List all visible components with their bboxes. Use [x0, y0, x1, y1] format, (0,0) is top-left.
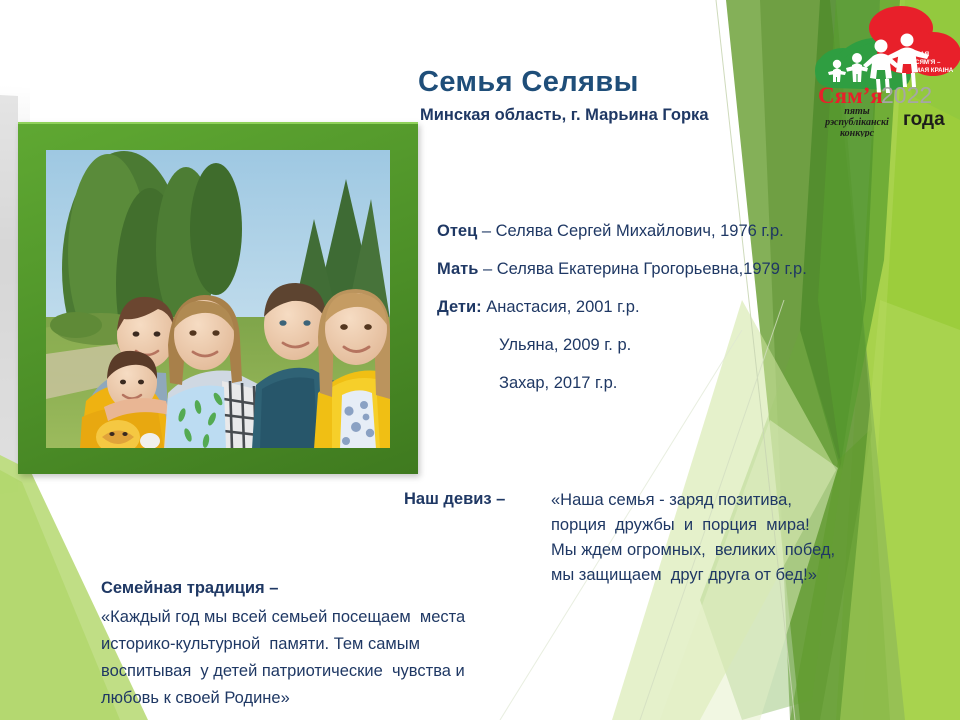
member-row-child-1: Дети: Анастасия, 2001 г.р. [437, 288, 807, 326]
member-value-child-2: Ульяна, 2009 г. р. [499, 336, 631, 354]
logo-contest-line2: рэспубліканскі [824, 117, 889, 128]
page-subtitle: Минская область, г. Марьина Горка [420, 106, 709, 125]
member-row-father: Отец – Селява Сергей Михайлович, 1976 г.… [437, 212, 807, 250]
logo-contest-line1: пяты [844, 106, 869, 117]
motto-label: Наш девиз – [404, 490, 505, 509]
tradition-text: «Каждый год мы всей семьей посещаем мест… [101, 604, 465, 712]
member-value-child-3: Захар, 2017 г.р. [499, 374, 617, 392]
logo-badge-line1: МАЯ [915, 51, 930, 58]
logo-year-word: года [903, 109, 945, 130]
contest-logo-graphic: МАЯ СЯМ’Я – МАЯ КРАІНА Сям’я 2022 пяты р… [795, 2, 960, 137]
logo-badge-line2: СЯМ’Я – [915, 59, 941, 66]
member-label-children: Дети: [437, 298, 482, 316]
family-photo [46, 150, 390, 448]
motto-text: «Наша семья - заряд позитива, порция дру… [551, 488, 835, 588]
member-value-child-1: Анастасия, 2001 г.р. [486, 298, 639, 316]
logo-badge-line3: МАЯ КРАІНА [915, 67, 954, 74]
member-dash-mother: – [478, 260, 496, 278]
logo-name: Сям’я [818, 83, 883, 108]
logo-contest-line3: конкурс [840, 128, 875, 137]
member-value-mother: Селява Екатерина Грогорьевна,1979 г.р. [497, 260, 807, 278]
family-photo-frame [18, 122, 418, 474]
member-dash-father: – [477, 222, 495, 240]
member-row-child-3: Захар, 2017 г.р. [437, 364, 807, 402]
logo-year: 2022 [881, 82, 932, 108]
member-label-father: Отец [437, 222, 477, 240]
slide-canvas: Семья Селявы Минская область, г. Марьина… [0, 0, 960, 720]
member-row-child-2: Ульяна, 2009 г. р. [437, 326, 807, 364]
member-row-mother: Мать – Селява Екатерина Грогорьевна,1979… [437, 250, 807, 288]
family-photo-image [46, 150, 390, 448]
tradition-label: Семейная традиция – [101, 579, 278, 598]
member-label-mother: Мать [437, 260, 478, 278]
page-title: Семья Селявы [418, 66, 639, 99]
member-value-father: Селява Сергей Михайлович, 1976 г.р. [496, 222, 784, 240]
contest-logo: МАЯ СЯМ’Я – МАЯ КРАІНА Сям’я 2022 пяты р… [795, 2, 960, 137]
family-members-list: Отец – Селява Сергей Михайлович, 1976 г.… [437, 212, 807, 402]
